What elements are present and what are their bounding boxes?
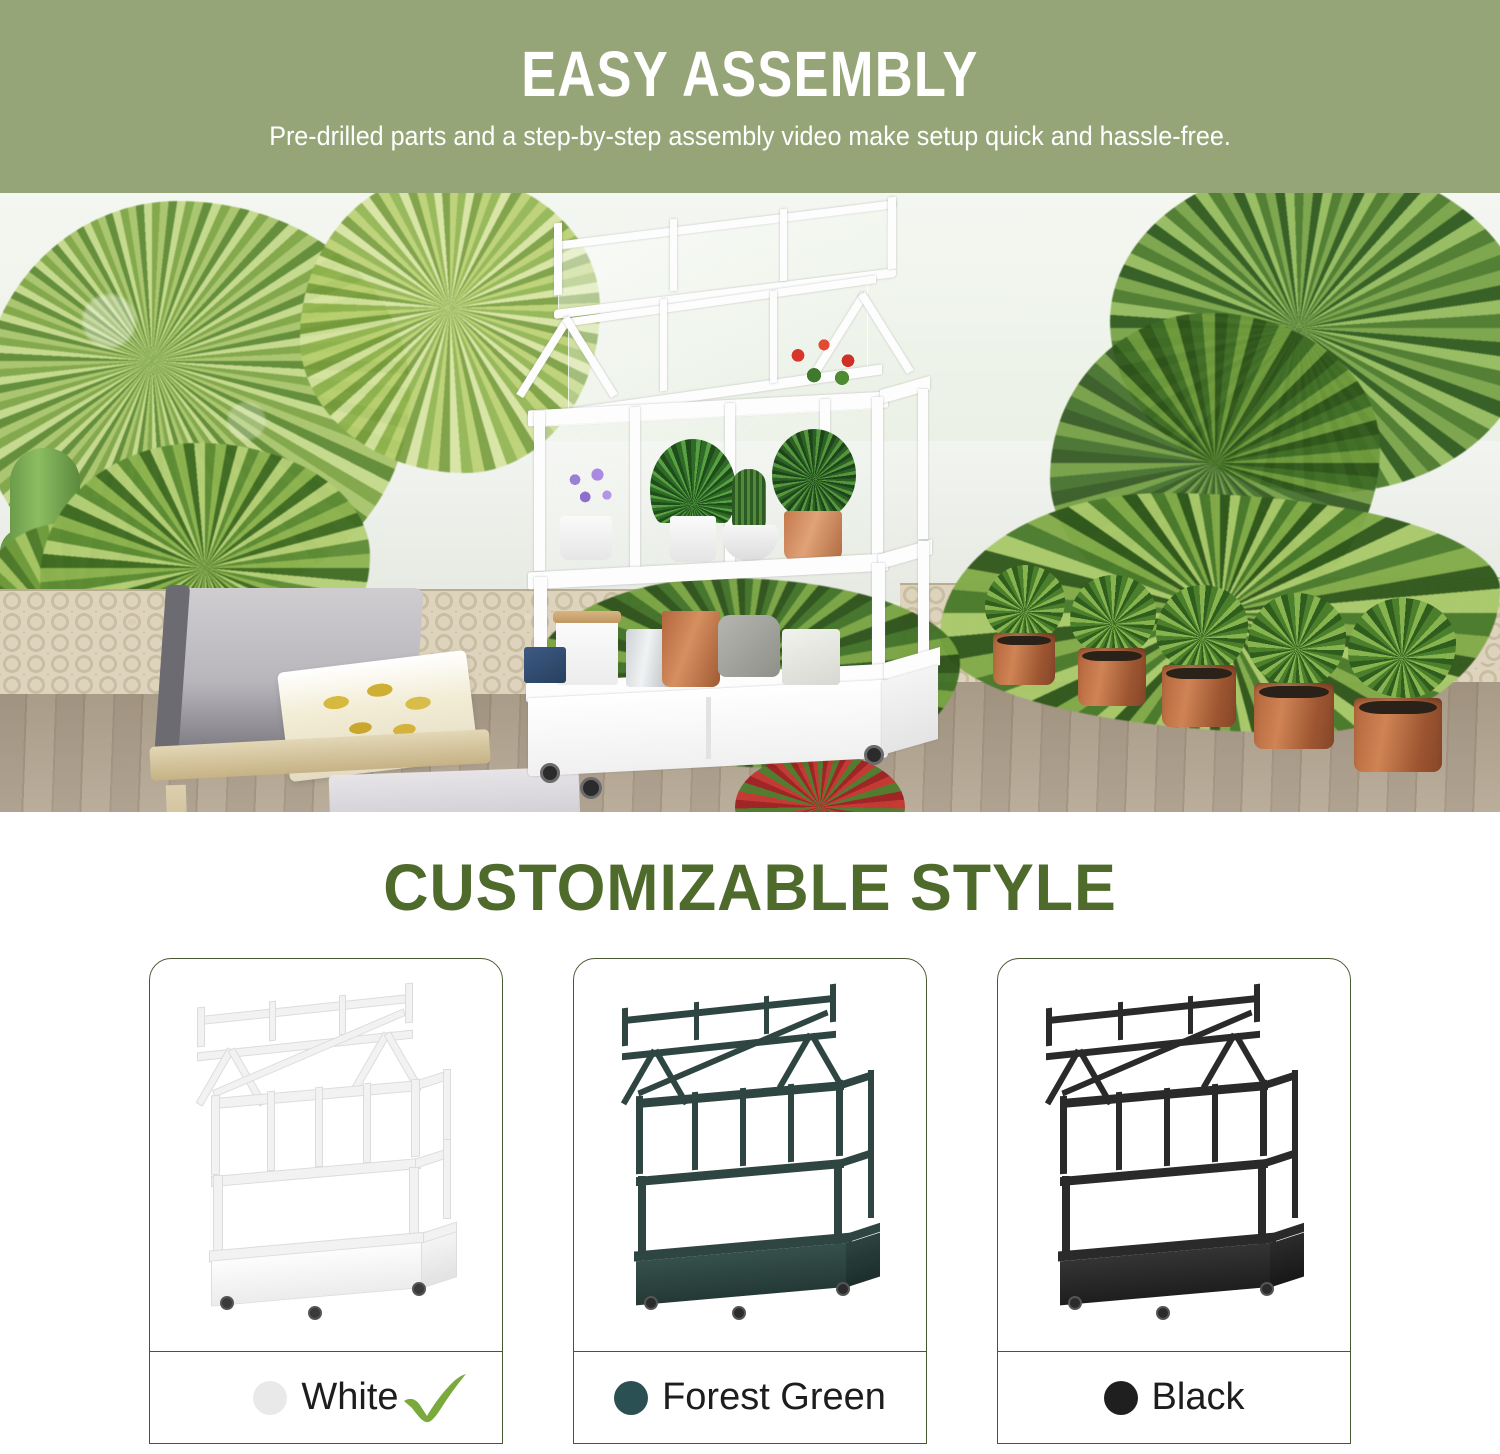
color-label-row-forest-green[interactable]: Forest Green bbox=[574, 1351, 926, 1443]
white-pot-orchid bbox=[560, 516, 612, 560]
banner-title: EASY ASSEMBLY bbox=[521, 42, 978, 106]
customizable-style-section: CUSTOMIZABLE STYLE bbox=[0, 812, 1500, 1444]
color-swatch-forest-green bbox=[614, 1381, 648, 1415]
color-option-card-white[interactable]: White bbox=[149, 958, 503, 1444]
cabinet-post-far-right bbox=[918, 389, 928, 539]
product-render-white bbox=[150, 959, 502, 1351]
product-render-forest-green bbox=[574, 959, 926, 1351]
red-flowers-top bbox=[776, 329, 876, 395]
barrel-cactus bbox=[732, 469, 766, 531]
easy-assembly-banner: EASY ASSEMBLY Pre-drilled parts and a st… bbox=[0, 0, 1500, 193]
cabinet-post-left bbox=[534, 411, 545, 572]
color-name-forest-green: Forest Green bbox=[662, 1376, 886, 1419]
terracotta-pot-stack bbox=[662, 611, 720, 687]
greenhouse-illustration bbox=[614, 990, 886, 1320]
color-swatch-white bbox=[253, 1381, 287, 1415]
white-greenhouse-cart bbox=[520, 211, 940, 791]
color-option-cards: White bbox=[0, 958, 1500, 1444]
orchid-flowers bbox=[558, 461, 626, 523]
citrus-tree bbox=[772, 429, 856, 521]
blue-container bbox=[524, 647, 566, 683]
color-swatch-black bbox=[1104, 1381, 1138, 1415]
color-label-row-black[interactable]: Black bbox=[998, 1351, 1350, 1443]
copper-pot bbox=[1162, 665, 1236, 727]
copper-pot bbox=[1354, 698, 1442, 772]
roof-slope-mullion bbox=[660, 299, 667, 392]
caster-wheel bbox=[580, 777, 602, 799]
color-option-card-black[interactable]: Black bbox=[997, 958, 1351, 1444]
roof-lid-right-stile bbox=[888, 197, 896, 270]
cabinet-door-stile bbox=[630, 407, 640, 570]
caster-wheel bbox=[540, 763, 560, 783]
fabric-grow-bag bbox=[782, 629, 840, 685]
canister-wood-lid bbox=[553, 611, 621, 623]
banner-subtitle: Pre-drilled parts and a step-by-step ass… bbox=[269, 122, 1231, 152]
roof-lid-left-stile bbox=[554, 223, 562, 296]
copper-pot bbox=[993, 633, 1055, 685]
section-title: CUSTOMIZABLE STYLE bbox=[38, 812, 1463, 958]
planter-box-side-panel bbox=[882, 665, 938, 755]
greenhouse-illustration bbox=[1038, 990, 1310, 1320]
gable-rafter-left bbox=[516, 316, 572, 398]
copper-pot bbox=[1078, 648, 1146, 706]
potted-plant-foliage bbox=[1156, 585, 1248, 673]
potted-plant-foliage bbox=[1248, 593, 1346, 687]
planter-panel-divider bbox=[706, 697, 711, 759]
color-name-black: Black bbox=[1152, 1376, 1245, 1419]
copper-pot bbox=[1254, 683, 1334, 749]
color-option-card-forest-green[interactable]: Forest Green bbox=[573, 958, 927, 1444]
roof-lid-mullion bbox=[780, 209, 787, 282]
white-pot-palm bbox=[670, 516, 716, 562]
roof-lid-mullion bbox=[670, 219, 677, 292]
potted-plant-foliage bbox=[1070, 575, 1156, 657]
color-label-row-white[interactable]: White bbox=[150, 1351, 502, 1443]
potted-plant-foliage bbox=[1348, 598, 1456, 698]
caster-wheel bbox=[864, 745, 884, 765]
potted-plant-foliage bbox=[985, 565, 1065, 643]
greenhouse-illustration bbox=[190, 990, 462, 1320]
color-name-white: White bbox=[301, 1376, 398, 1419]
check-mark-icon bbox=[400, 1371, 470, 1425]
terracotta-pot bbox=[784, 511, 842, 561]
lifestyle-hero-photo bbox=[0, 193, 1500, 812]
cabinet-post-right bbox=[872, 397, 883, 556]
concrete-planter bbox=[718, 615, 780, 677]
product-render-black bbox=[998, 959, 1350, 1351]
